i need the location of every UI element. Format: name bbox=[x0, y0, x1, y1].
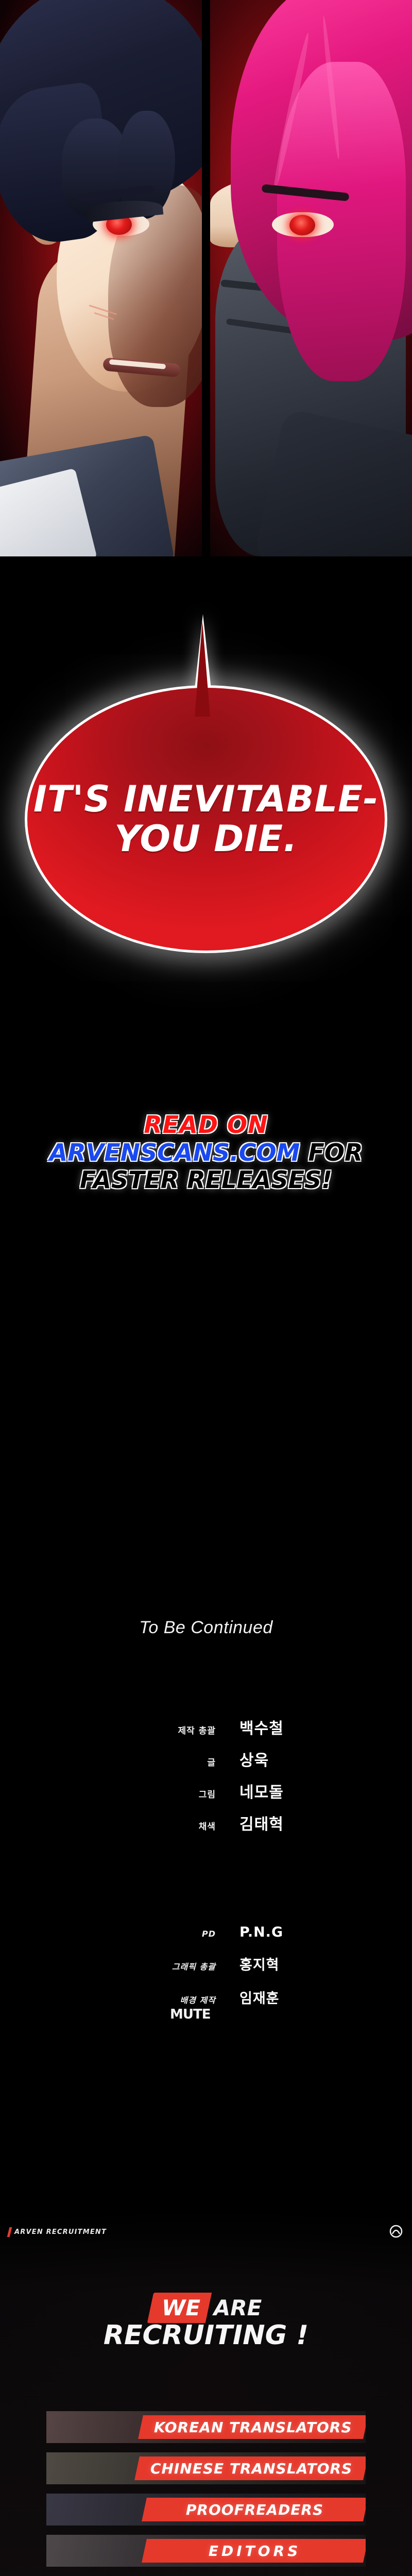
credit-row: 그림 네모돌 bbox=[0, 1780, 412, 1802]
studio-logo-row: MUTE bbox=[0, 2007, 412, 2022]
credit-role-label: 그림 bbox=[70, 1787, 239, 1800]
red-glowing-iris-right-icon bbox=[289, 215, 315, 235]
credit-person-name: 김태혁 bbox=[239, 1811, 342, 1834]
character-left-eye bbox=[93, 212, 149, 236]
credits-secondary: PD P.N.G 그래픽 총괄 홍지혁 배경 제작 임재훈 bbox=[0, 1924, 412, 2021]
dialogue-line-2: YOU DIE. bbox=[33, 820, 379, 858]
red-slash-icon bbox=[7, 2227, 12, 2237]
credit-role-label: 배경 제작 bbox=[70, 1993, 239, 2006]
credit-person-name: 상욱 bbox=[239, 1748, 342, 1770]
role-row-chinese-translators[interactable]: CHINESE TRANSLATORS bbox=[46, 2452, 366, 2484]
promo-line-2: ARVENSCANS.COM FOR bbox=[0, 1140, 412, 1166]
role-row-proofreaders[interactable]: PROOFREADERS bbox=[46, 2494, 366, 2526]
credit-person-name: 홍지혁 bbox=[239, 1954, 342, 1974]
role-label-banner: EDITORS bbox=[142, 2539, 366, 2563]
studio-logo-mute: MUTE bbox=[170, 2007, 273, 2022]
credit-role-label: 채색 bbox=[70, 1819, 239, 1832]
recruitment-section: ARVEN RECRUITMENT WE ARE RECRUITING ! KO… bbox=[0, 2215, 412, 2576]
role-row-editors[interactable]: EDITORS bbox=[46, 2535, 366, 2567]
promo-for-word: FOR bbox=[300, 1139, 363, 1166]
to-be-continued-text: To Be Continued bbox=[0, 1618, 412, 1638]
character-left-half bbox=[0, 0, 202, 556]
panel-divider bbox=[202, 0, 210, 556]
balloon-tail-fill bbox=[195, 621, 210, 717]
role-label-text: KOREAN TRANSLATORS bbox=[154, 2419, 352, 2436]
credit-role-label: 그래픽 총괄 bbox=[70, 1960, 239, 1972]
credit-person-name: 백수철 bbox=[239, 1716, 342, 1738]
webtoon-page: IT'S INEVITABLE- YOU DIE. READ ON ARVENS… bbox=[0, 0, 412, 2576]
credit-row: 글 상욱 bbox=[0, 1748, 412, 1770]
character-right-eye bbox=[272, 212, 334, 237]
credit-role-label: 제작 총괄 bbox=[70, 1723, 239, 1736]
dialogue-line-1: IT'S INEVITABLE- bbox=[33, 778, 379, 820]
credit-row: 제작 총괄 백수철 bbox=[0, 1716, 412, 1738]
credit-row: 그래픽 총괄 홍지혁 bbox=[0, 1954, 412, 1974]
title-are: ARE bbox=[214, 2295, 262, 2320]
we-are-recruiting-title: WE ARE RECRUITING ! bbox=[0, 2293, 412, 2351]
recruitment-header-title: ARVEN RECRUITMENT bbox=[14, 2228, 107, 2236]
title-we: WE bbox=[162, 2295, 200, 2320]
balloon-text: IT'S INEVITABLE- YOU DIE. bbox=[33, 781, 379, 858]
credit-role-label: 글 bbox=[70, 1755, 239, 1768]
promo-banner[interactable]: READ ON ARVENSCANS.COM FOR FASTER RELEAS… bbox=[0, 1113, 412, 1193]
role-label-banner: PROOFREADERS bbox=[142, 2498, 366, 2521]
credit-person-name: P.N.G bbox=[239, 1924, 342, 1940]
title-line-1: WE ARE bbox=[150, 2293, 262, 2323]
role-label-text: EDITORS bbox=[209, 2543, 301, 2560]
character-right-half bbox=[210, 0, 412, 556]
we-red-tag: WE bbox=[147, 2293, 212, 2323]
role-label-text: CHINESE TRANSLATORS bbox=[150, 2460, 352, 2477]
credit-row: 채색 김태혁 bbox=[0, 1811, 412, 1834]
promo-site-link[interactable]: ARVENSCANS.COM bbox=[49, 1139, 300, 1166]
credit-person-name: 네모돌 bbox=[239, 1780, 342, 1802]
promo-line-3: FASTER RELEASES! bbox=[0, 1167, 412, 1193]
credit-role-label: PD bbox=[70, 1929, 239, 1939]
credit-row: PD P.N.G bbox=[0, 1924, 412, 1940]
recruitment-header: ARVEN RECRUITMENT bbox=[0, 2215, 412, 2248]
role-label-text: PROOFREADERS bbox=[186, 2501, 323, 2518]
role-label-banner: KOREAN TRANSLATORS bbox=[138, 2415, 366, 2439]
speech-balloon-container: IT'S INEVITABLE- YOU DIE. bbox=[0, 608, 412, 969]
credits-primary: 제작 총괄 백수철 글 상욱 그림 네모돌 채색 김태혁 bbox=[0, 1716, 412, 1843]
speech-balloon: IT'S INEVITABLE- YOU DIE. bbox=[25, 685, 387, 953]
promo-line-1: READ ON bbox=[0, 1113, 412, 1137]
panel-split-faces bbox=[0, 0, 412, 556]
credit-person-name: 임재훈 bbox=[239, 1987, 342, 2007]
role-row-korean-translators[interactable]: KOREAN TRANSLATORS bbox=[46, 2411, 366, 2443]
arven-logo-icon bbox=[389, 2225, 403, 2239]
credit-row: 배경 제작 임재훈 bbox=[0, 1987, 412, 2007]
role-label-banner: CHINESE TRANSLATORS bbox=[134, 2456, 366, 2480]
title-recruiting: RECRUITING ! bbox=[104, 2320, 308, 2351]
open-roles-list: KOREAN TRANSLATORS CHINESE TRANSLATORS P… bbox=[0, 2411, 412, 2576]
